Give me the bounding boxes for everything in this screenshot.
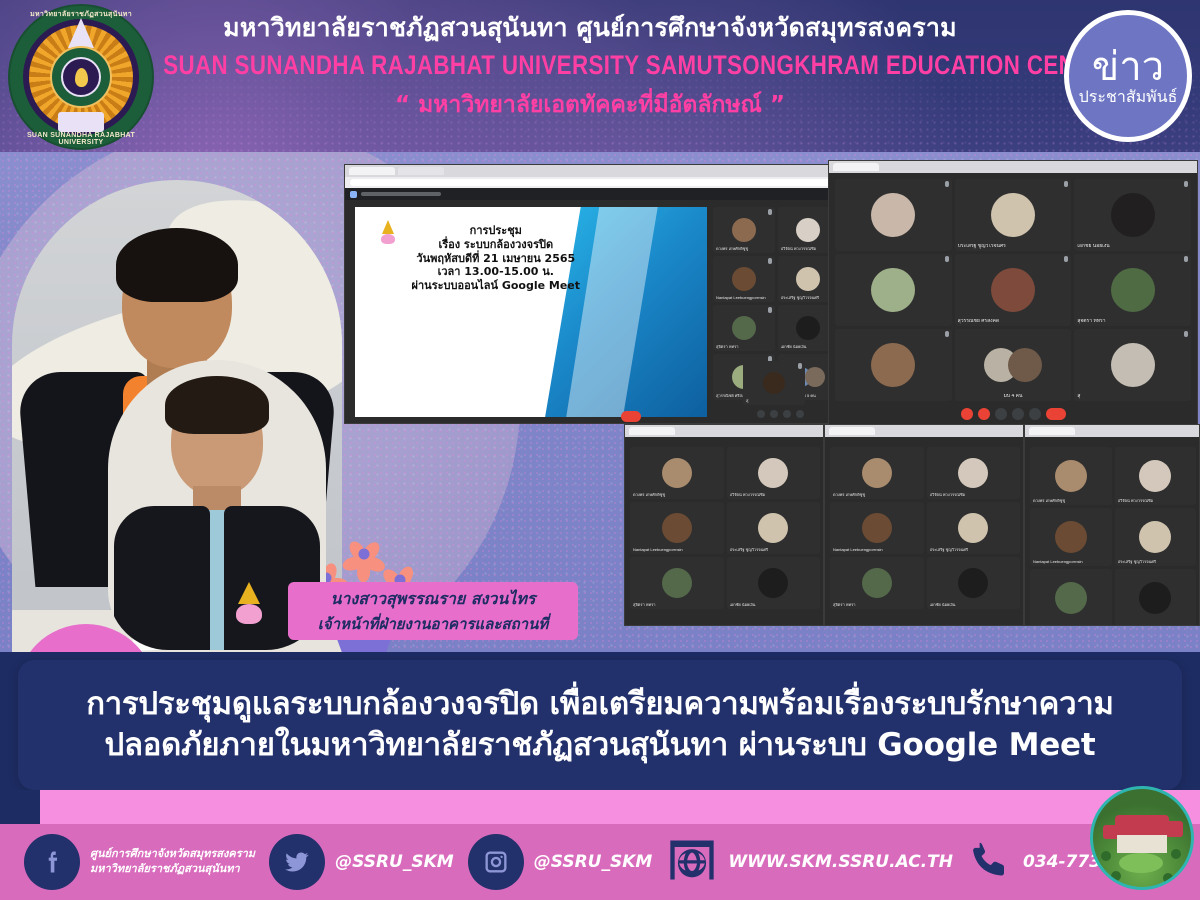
caption-text: การประชุมดูแลระบบกล้องวงจรปิด เพื่อเตรีย… (18, 684, 1182, 766)
participant-tile[interactable]: เอกชัย น้อยเงิน (1074, 179, 1191, 251)
participant-tile[interactable]: เอกชัย น้อยเงิน (927, 557, 1021, 609)
mic-icon (1064, 181, 1068, 187)
participant-tile[interactable]: ปวีรัตน์ พวงวรรณ์ชื่อ (1115, 447, 1197, 505)
participant-tile[interactable] (835, 329, 952, 401)
footer-twitter[interactable]: @SSRU_SKM (269, 834, 454, 890)
participant-tile[interactable] (835, 254, 952, 326)
browser-tabstrip[interactable] (829, 161, 1197, 173)
participant-name: เอกชัย น้อยเงิน (930, 603, 1018, 607)
browser-window-thumb[interactable]: ดวงพร เกษศักดิ์ชูชู ปวีรัตน์ พวงวรรณ์ชื่… (824, 424, 1024, 626)
org-name-english: SUAN SUNANDHA RAJABHAT UNIVERSITY SAMUTS… (163, 48, 1017, 83)
mic-icon (798, 363, 802, 369)
people-icon[interactable] (770, 410, 778, 418)
leave-call-button[interactable] (621, 411, 641, 422)
slide-line-4: เวลา 13.00-15.00 น. (376, 265, 615, 279)
mic-icon (945, 256, 949, 262)
participant-name: ดวงพร เกษศักดิ์ชูชู (833, 493, 921, 497)
browser-tab-1[interactable] (349, 167, 395, 175)
instagram-handle: @SSRU_SKM (534, 852, 653, 872)
header-text-block: มหาวิทยาลัยราชภัฏสวนสุนันทา ศูนย์การศึกษ… (150, 12, 1030, 123)
participant-tile-group[interactable]: มีบ 4 คน (955, 329, 1072, 401)
participant-name: ปวีรัตน์ พวงวรรณ์ชื่อ (1118, 499, 1194, 503)
participant-name: ประเสริฐ ชูญวิโรจนศรี (1118, 560, 1194, 564)
footer-facebook[interactable]: ศูนย์การศึกษาจังหวัดสมุทรสงคราม มหาวิทยา… (24, 834, 255, 890)
globe-icon[interactable] (666, 834, 718, 891)
meet-logo-icon (350, 191, 357, 198)
participant-tile[interactable]: ดวงพร เกษศักดิ์ชูชู (1030, 447, 1112, 505)
mic-icon (1064, 256, 1068, 262)
poster-header: มหาวิทยาลัยราชภัฏสวนสุนันทา SUAN SUNANDH… (0, 0, 1200, 152)
phone-icon[interactable] (967, 837, 1013, 888)
url-field[interactable] (350, 179, 838, 186)
participant-tile[interactable] (1115, 569, 1197, 626)
mic-icon (1184, 181, 1188, 187)
university-tagline: “ มหาวิทยาลัยเอตทัคคะที่มีอัตลักษณ์ ” (150, 87, 1030, 123)
participant-tile[interactable]: สุจิตรา หทรา (630, 557, 724, 609)
slide-text-block: การประชุม เรื่อง ระบบกล้องวงจรปิด วันพฤห… (376, 224, 615, 293)
twitter-icon[interactable] (269, 834, 325, 890)
browser-window-grid[interactable]: ประเสริฐ ชูญวิโรจนศรี เอกชัย น้อยเงิน (828, 160, 1198, 428)
campus-aerial-photo (1090, 786, 1194, 890)
participant-tile[interactable]: ปวีรัตน์ พวงวรรณ์ชื่อ (727, 447, 821, 499)
participant-name: ประเสริฐ ชูญวิโรจนศรี (930, 548, 1018, 552)
facebook-icon[interactable] (24, 834, 80, 890)
org-name-thai: มหาวิทยาลัยราชภัฏสวนสุนันทา ศูนย์การศึกษ… (150, 12, 1030, 43)
present-screen-button[interactable] (1012, 408, 1024, 420)
photo-collage: การประชุม เรื่อง ระบบกล้องวงจรปิด วันพฤห… (0, 152, 1200, 652)
slide-line-5: ผ่านระบบออนไลน์ Google Meet (376, 279, 615, 293)
participant-name: เอกชัย น้อยเงิน (1077, 244, 1188, 249)
meet-sidebar-controls[interactable] (725, 407, 835, 421)
mic-icon (945, 181, 949, 187)
browser-tab-2[interactable] (398, 167, 444, 175)
raise-hand-button[interactable] (995, 408, 1007, 420)
footer-website[interactable]: WWW.SKM.SSRU.AC.TH (666, 834, 953, 891)
meet-control-bar[interactable] (829, 406, 1197, 422)
mic-toggle-button[interactable] (961, 408, 973, 420)
mic-icon (768, 307, 772, 313)
participant-name: สุ (1077, 394, 1188, 399)
participant-tile[interactable]: สุจิตรา หทรา (1074, 254, 1191, 326)
meet-participant-grid: ดวงพร เกษศักดิ์ชูชู ปวีรัตน์ พวงวรรณ์ชื่… (1030, 447, 1196, 626)
participant-tile[interactable]: สุ (1074, 329, 1191, 401)
participant-tile[interactable]: ประเสริฐ ชูญวิโรจนศรี (1115, 508, 1197, 566)
participant-name: ปวีรัตน์ พวงวรรณ์ชื่อ (730, 493, 818, 497)
contact-footer: ศูนย์การศึกษาจังหวัดสมุทรสงคราม มหาวิทยา… (0, 824, 1200, 900)
leave-call-button[interactable] (1046, 408, 1066, 420)
participant-tile[interactable]: ดวงพร เกษศักดิ์ชูชู (830, 447, 924, 499)
participant-name: Nantapat Leebuengporrnsin (1033, 560, 1109, 564)
participant-name: เอกชัย น้อยเงิน (730, 603, 818, 607)
participant-tile[interactable]: เอกชัย น้อยเงิน (727, 557, 821, 609)
participant-name: สุจิตรา หทรา (716, 345, 772, 349)
participant-name: สุ (746, 399, 802, 403)
browser-address-bar[interactable] (345, 177, 843, 188)
news-badge-title: ข่าว (1092, 47, 1164, 87)
participant-tile[interactable]: ประเสริฐ ชูญวิโรจนศรี (727, 502, 821, 554)
mic-icon (1184, 256, 1188, 262)
participant-tile[interactable]: ประเสริฐ ชูญวิโรจนศรี (927, 502, 1021, 554)
info-icon[interactable] (757, 410, 765, 418)
participant-name: ประเสริฐ ชูญวิโรจนศรี (958, 244, 1069, 249)
participant-tile[interactable]: Nantapat Leebuengporrnsin (1030, 508, 1112, 566)
browser-tabstrip[interactable] (345, 165, 843, 177)
participant-tile[interactable]: ดวงพร เกษศักดิ์ชูชู (713, 207, 775, 253)
mic-icon (768, 209, 772, 215)
seal-top-text: มหาวิทยาลัยราชภัฏสวนสุนันทา (8, 9, 154, 20)
participant-tile[interactable]: Nantapat Leebuengporrnsin (630, 502, 724, 554)
seal-bottom-text: SUAN SUNANDHA RAJABHAT UNIVERSITY (8, 132, 154, 146)
news-badge-subtitle: ประชาสัมพันธ์ (1079, 89, 1178, 105)
participant-name: ดวงพร เกษศักดิ์ชูชู (1033, 499, 1109, 503)
meet-participant-grid: ประเสริฐ ชูญวิโรจนศรี เอกชัย น้อยเงิน (835, 179, 1191, 401)
browser-tab-1[interactable] (833, 163, 879, 171)
meeting-screenshots: การประชุม เรื่อง ระบบกล้องวงจรปิด วันพฤห… (340, 152, 1200, 652)
browser-window-thumb[interactable]: ดวงพร เกษศักดิ์ชูชู ปวีรัตน์ พวงวรรณ์ชื่… (624, 424, 824, 626)
participant-tile-self[interactable]: สุ (743, 361, 805, 405)
participant-name: มีบ 4 คน (958, 394, 1069, 399)
slide-line-3: วันพฤหัสบดีที่ 21 เมษายน 2565 (376, 252, 615, 266)
browser-window-slide[interactable]: การประชุม เรื่อง ระบบกล้องวงจรปิด วันพฤห… (344, 164, 844, 424)
browser-window-thumb[interactable]: ดวงพร เกษศักดิ์ชูชู ปวีรัตน์ พวงวรรณ์ชื่… (1024, 424, 1200, 626)
participant-tile[interactable] (1030, 569, 1112, 626)
chat-icon[interactable] (783, 410, 791, 418)
participant-tile[interactable]: สุจิตรา หทรา (830, 557, 924, 609)
mic-icon (945, 331, 949, 337)
caption-banner: การประชุมดูแลระบบกล้องวงจรปิด เพื่อเตรีย… (18, 660, 1182, 790)
presentation-slide: การประชุม เรื่อง ระบบกล้องวงจรปิด วันพฤห… (355, 207, 707, 417)
participant-tile[interactable]: Nantapat Leebuengporrnsin (830, 502, 924, 554)
staff-name: นางสาวสุพรรณราย สงวนไทร (330, 587, 535, 612)
participant-tile[interactable]: สุจิตรา หทรา (713, 305, 775, 351)
meet-participant-grid: ดวงพร เกษศักดิ์ชูชู ปวีรัตน์ พวงวรรณ์ชื่… (630, 447, 820, 609)
participant-name: ปวีรัตน์ พวงวรรณ์ชื่อ (930, 493, 1018, 497)
participant-tile[interactable] (835, 179, 952, 251)
participant-tile[interactable]: ประเสริฐ ชูญวิโรจนศรี (955, 179, 1072, 251)
participant-name: สุจิตรา หทรา (633, 603, 721, 607)
participant-name: ประเสริฐ ชูญวิโรจนศรี (730, 548, 818, 552)
participant-tile[interactable]: สุวรรณิชย์ ศรีสงค์ดี (955, 254, 1072, 326)
participant-name: Nantapat Leebuengporrnsin (833, 548, 921, 552)
browser-tab-1[interactable] (629, 427, 675, 435)
camera-toggle-button[interactable] (978, 408, 990, 420)
more-options-button[interactable] (1029, 408, 1041, 420)
browser-tab-1[interactable] (1029, 427, 1075, 435)
participant-name: ดวงพร เกษศักดิ์ชูชู (633, 493, 721, 497)
university-seal-icon: มหาวิทยาลัยราชภัฏสวนสุนันทา SUAN SUNANDH… (8, 4, 154, 150)
mic-icon (1184, 331, 1188, 337)
participant-name: สุจิตรา หทรา (1077, 319, 1188, 324)
participant-name: สุวรรณิชย์ ศรีสงค์ดี (958, 319, 1069, 324)
meet-participant-grid: ดวงพร เกษศักดิ์ชูชู ปวีรัตน์ พวงวรรณ์ชื่… (830, 447, 1020, 609)
participant-tile[interactable]: ปวีรัตน์ พวงวรรณ์ชื่อ (927, 447, 1021, 499)
uniform-emblem-icon (234, 582, 264, 624)
participant-name: สุจิตรา หทรา (833, 603, 921, 607)
participant-tile[interactable]: Nantapat Leebuengporrnsin (713, 256, 775, 302)
footer-facebook-text: ศูนย์การศึกษาจังหวัดสมุทรสงคราม มหาวิทยา… (90, 847, 255, 877)
name-plate-officer: นายเอกชน น้อยเงิน หัวหน้าสำนักงานฯ (16, 624, 362, 652)
participant-name: Nantapat Leebuengporrnsin (633, 548, 721, 552)
news-poster: มหาวิทยาลัยราชภัฏสวนสุนันทา SUAN SUNANDH… (0, 0, 1200, 900)
participant-name: Nantapat Leebuengporrnsin (716, 296, 772, 300)
footer-instagram[interactable]: @SSRU_SKM (468, 834, 653, 890)
website-url: WWW.SKM.SSRU.AC.TH (728, 852, 953, 872)
slide-line-2: เรื่อง ระบบกล้องวงจรปิด (376, 238, 615, 252)
browser-tab-1[interactable] (829, 427, 875, 435)
participant-tile[interactable]: ดวงพร เกษศักดิ์ชูชู (630, 447, 724, 499)
meet-header (345, 188, 843, 200)
twitter-handle: @SSRU_SKM (335, 852, 454, 872)
instagram-icon[interactable] (468, 834, 524, 890)
facebook-line-2: มหาวิทยาลัยราชภัฏสวนสุนันทา (90, 862, 255, 877)
participant-name: ดวงพร เกษศักดิ์ชูชู (716, 247, 772, 251)
activities-icon[interactable] (796, 410, 804, 418)
facebook-line-1: ศูนย์การศึกษาจังหวัดสมุทรสงคราม (90, 847, 255, 862)
mic-icon (768, 258, 772, 264)
news-badge: ข่าว ประชาสัมพันธ์ (1064, 10, 1192, 142)
slide-line-1: การประชุม (376, 224, 615, 238)
pink-divider-strip (0, 790, 1200, 824)
